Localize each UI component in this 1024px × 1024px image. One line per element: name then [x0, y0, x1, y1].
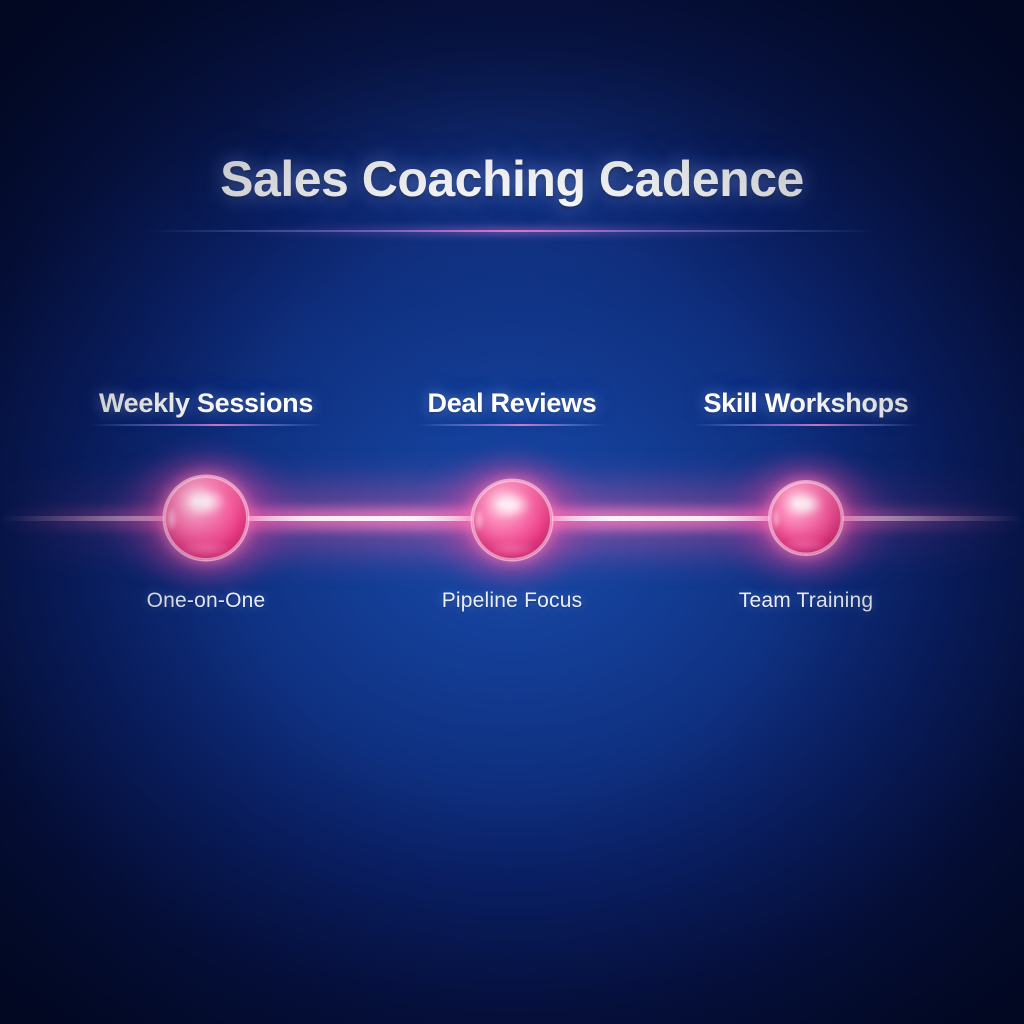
node-1-sphere[interactable]: [164, 476, 248, 560]
node-1-label: Weekly Sessions: [99, 386, 313, 420]
node-3-sphere-highlight: [789, 492, 821, 515]
node-3-label-underline: [693, 424, 919, 426]
title-block: Sales Coaching Cadence: [0, 148, 1024, 210]
background-sheen: [0, 0, 1024, 420]
node-2-sub-label: Pipeline Focus: [442, 588, 583, 614]
node-1-label-underline: [90, 424, 322, 426]
node-2-sphere-highlight: [494, 492, 529, 518]
node-1-sphere-sidelight: [167, 508, 175, 530]
node-2-label-underline: [418, 424, 606, 426]
node-2-marker[interactable]: [472, 480, 552, 560]
node-3-sphere-sidelight: [772, 509, 779, 528]
node-1-sphere-bounce: [182, 542, 229, 555]
node-3-label: Skill Workshops: [703, 386, 908, 420]
node-2-sphere[interactable]: [472, 480, 552, 560]
infographic-canvas: Sales Coaching Cadence Weekly Sessions O…: [0, 0, 1024, 1024]
page-title: Sales Coaching Cadence: [0, 148, 1024, 210]
node-3-sub-label: Team Training: [739, 588, 874, 614]
node-2-sphere-rim: [472, 480, 552, 560]
node-3-sphere-rim: [770, 482, 843, 555]
node-2-label-wrap: Deal Reviews: [428, 386, 597, 420]
node-1-sub-label: One-on-One: [147, 588, 266, 614]
node-2-sphere-bounce: [490, 543, 535, 556]
node-3-marker[interactable]: [770, 482, 843, 555]
node-1-label-wrap: Weekly Sessions: [99, 386, 313, 420]
node-1-marker[interactable]: [164, 476, 248, 560]
node-3-sphere[interactable]: [770, 482, 843, 555]
node-1-sphere-rim: [164, 476, 248, 560]
node-2-label: Deal Reviews: [428, 386, 597, 420]
node-3-sphere-bounce: [786, 539, 827, 551]
node-3-label-wrap: Skill Workshops: [703, 386, 908, 420]
node-1-sphere-highlight: [187, 489, 224, 516]
title-divider: [148, 230, 876, 232]
node-2-sphere-sidelight: [475, 510, 483, 531]
